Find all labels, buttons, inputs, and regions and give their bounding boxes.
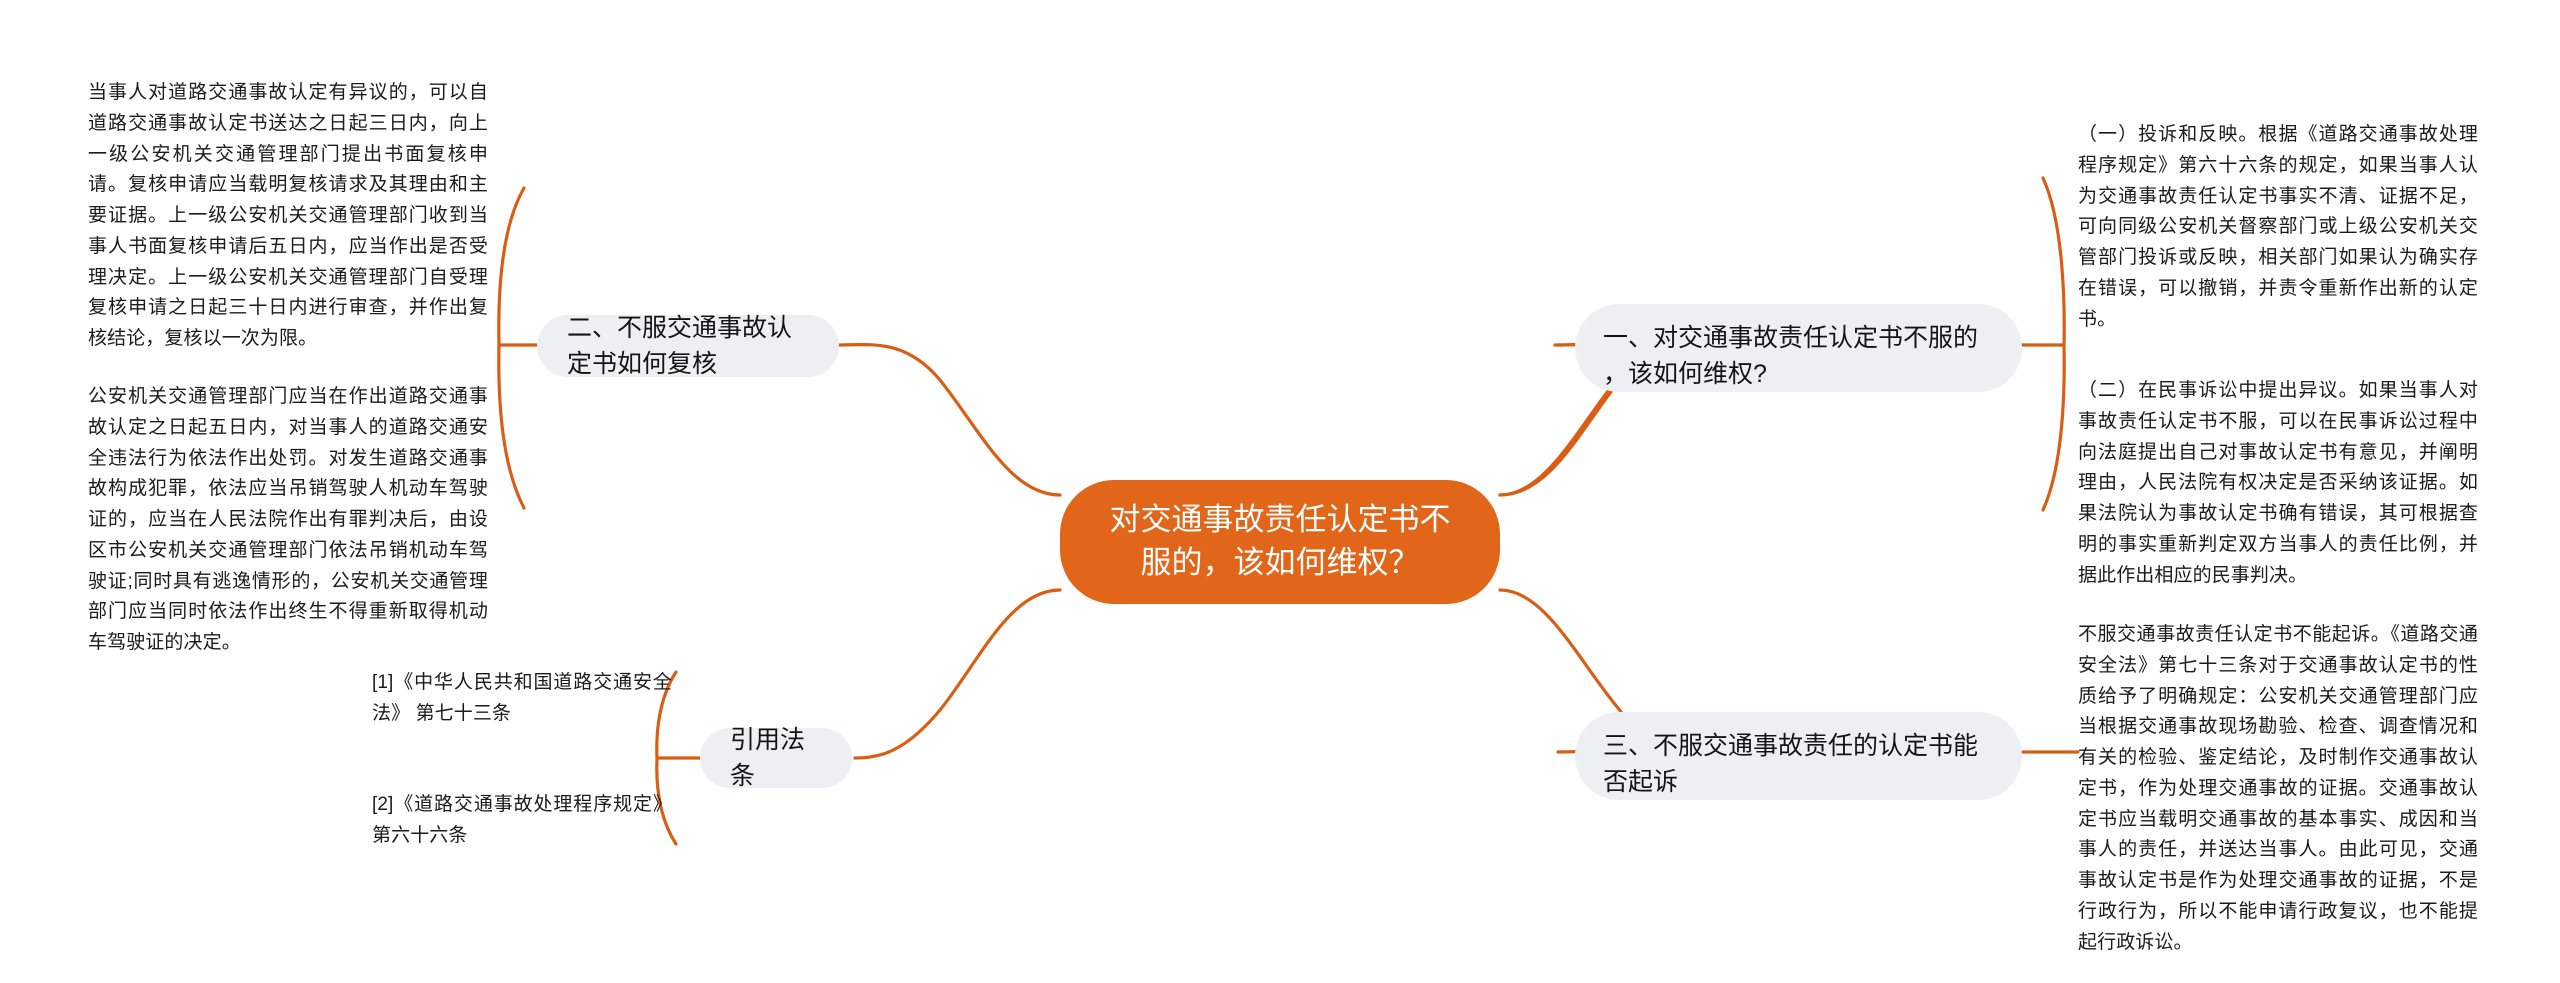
wire-root-to-branch-two [838, 345, 1060, 495]
leaf-civil-objection: （二）在民事诉讼中提出异议。如果当事人对事故责任认定书不服，可以在民事诉讼过程中… [2078, 376, 2478, 591]
branch-node-one-label: 一、对交通事故责任认定书不服的 ，该如何维权? [1603, 320, 1994, 392]
leaf-complaint: （一）投诉和反映。根据《道路交通事故处理程序规定》第六十六条的规定，如果当事人认… [2078, 120, 2478, 335]
branch-node-three-label-line2: 否起诉 [1603, 768, 1678, 796]
mindmap-canvas: 当事人对道路交通事故认定有异议的，可以自道路交通事故认定书送达之日起三日内，向上… [0, 0, 2560, 983]
citation-1: [1]《中华人民共和国道路交通安全法》 第七十三条 [372, 668, 672, 730]
branch-node-citations[interactable]: 引用法条 [700, 728, 852, 788]
root-node[interactable]: 对交通事故责任认定书不 服的，该如何维权？ [1060, 480, 1500, 604]
branch-node-one[interactable]: 一、对交通事故责任认定书不服的 ，该如何维权? [1575, 304, 2022, 392]
branch-node-two-label: 二、不服交通事故认定书如何复核 [567, 310, 809, 382]
citation-2: [2]《道路交通事故处理程序规定》 第六十六条 [372, 790, 672, 852]
brace-branch-two [499, 188, 524, 508]
branch-node-two[interactable]: 二、不服交通事故认定书如何复核 [537, 315, 839, 377]
wire-root-to-branch-citations [855, 590, 1060, 758]
branch-node-one-label-line2: ，该如何维权? [1603, 360, 1767, 388]
branch-node-three-label-line1: 三、不服交通事故责任的认定书能 [1603, 732, 1978, 760]
root-node-label: 对交通事故责任认定书不 服的，该如何维权？ [1110, 499, 1451, 585]
root-node-label-line2: 服的，该如何维权？ [1110, 542, 1451, 585]
branch-node-one-label-line1: 一、对交通事故责任认定书不服的 [1603, 324, 1978, 352]
branch-node-citations-label: 引用法条 [730, 722, 822, 794]
leaf-cannot-sue: 不服交通事故责任认定书不能起诉。《道路交通安全法》第七十三条对于交通事故认定书的… [2078, 620, 2478, 958]
branch-node-three[interactable]: 三、不服交通事故责任的认定书能 否起诉 [1575, 712, 2022, 800]
brace-branch-one [2043, 178, 2064, 510]
leaf-penalty-procedure: 公安机关交通管理部门应当在作出道路交通事故认定之日起五日内，对当事人的道路交通安… [88, 382, 488, 659]
root-node-label-line1: 对交通事故责任认定书不 [1110, 499, 1451, 542]
branch-node-three-label: 三、不服交通事故责任的认定书能 否起诉 [1603, 728, 1994, 800]
leaf-review-procedure: 当事人对道路交通事故认定有异议的，可以自道路交通事故认定书送达之日起三日内，向上… [88, 78, 488, 355]
